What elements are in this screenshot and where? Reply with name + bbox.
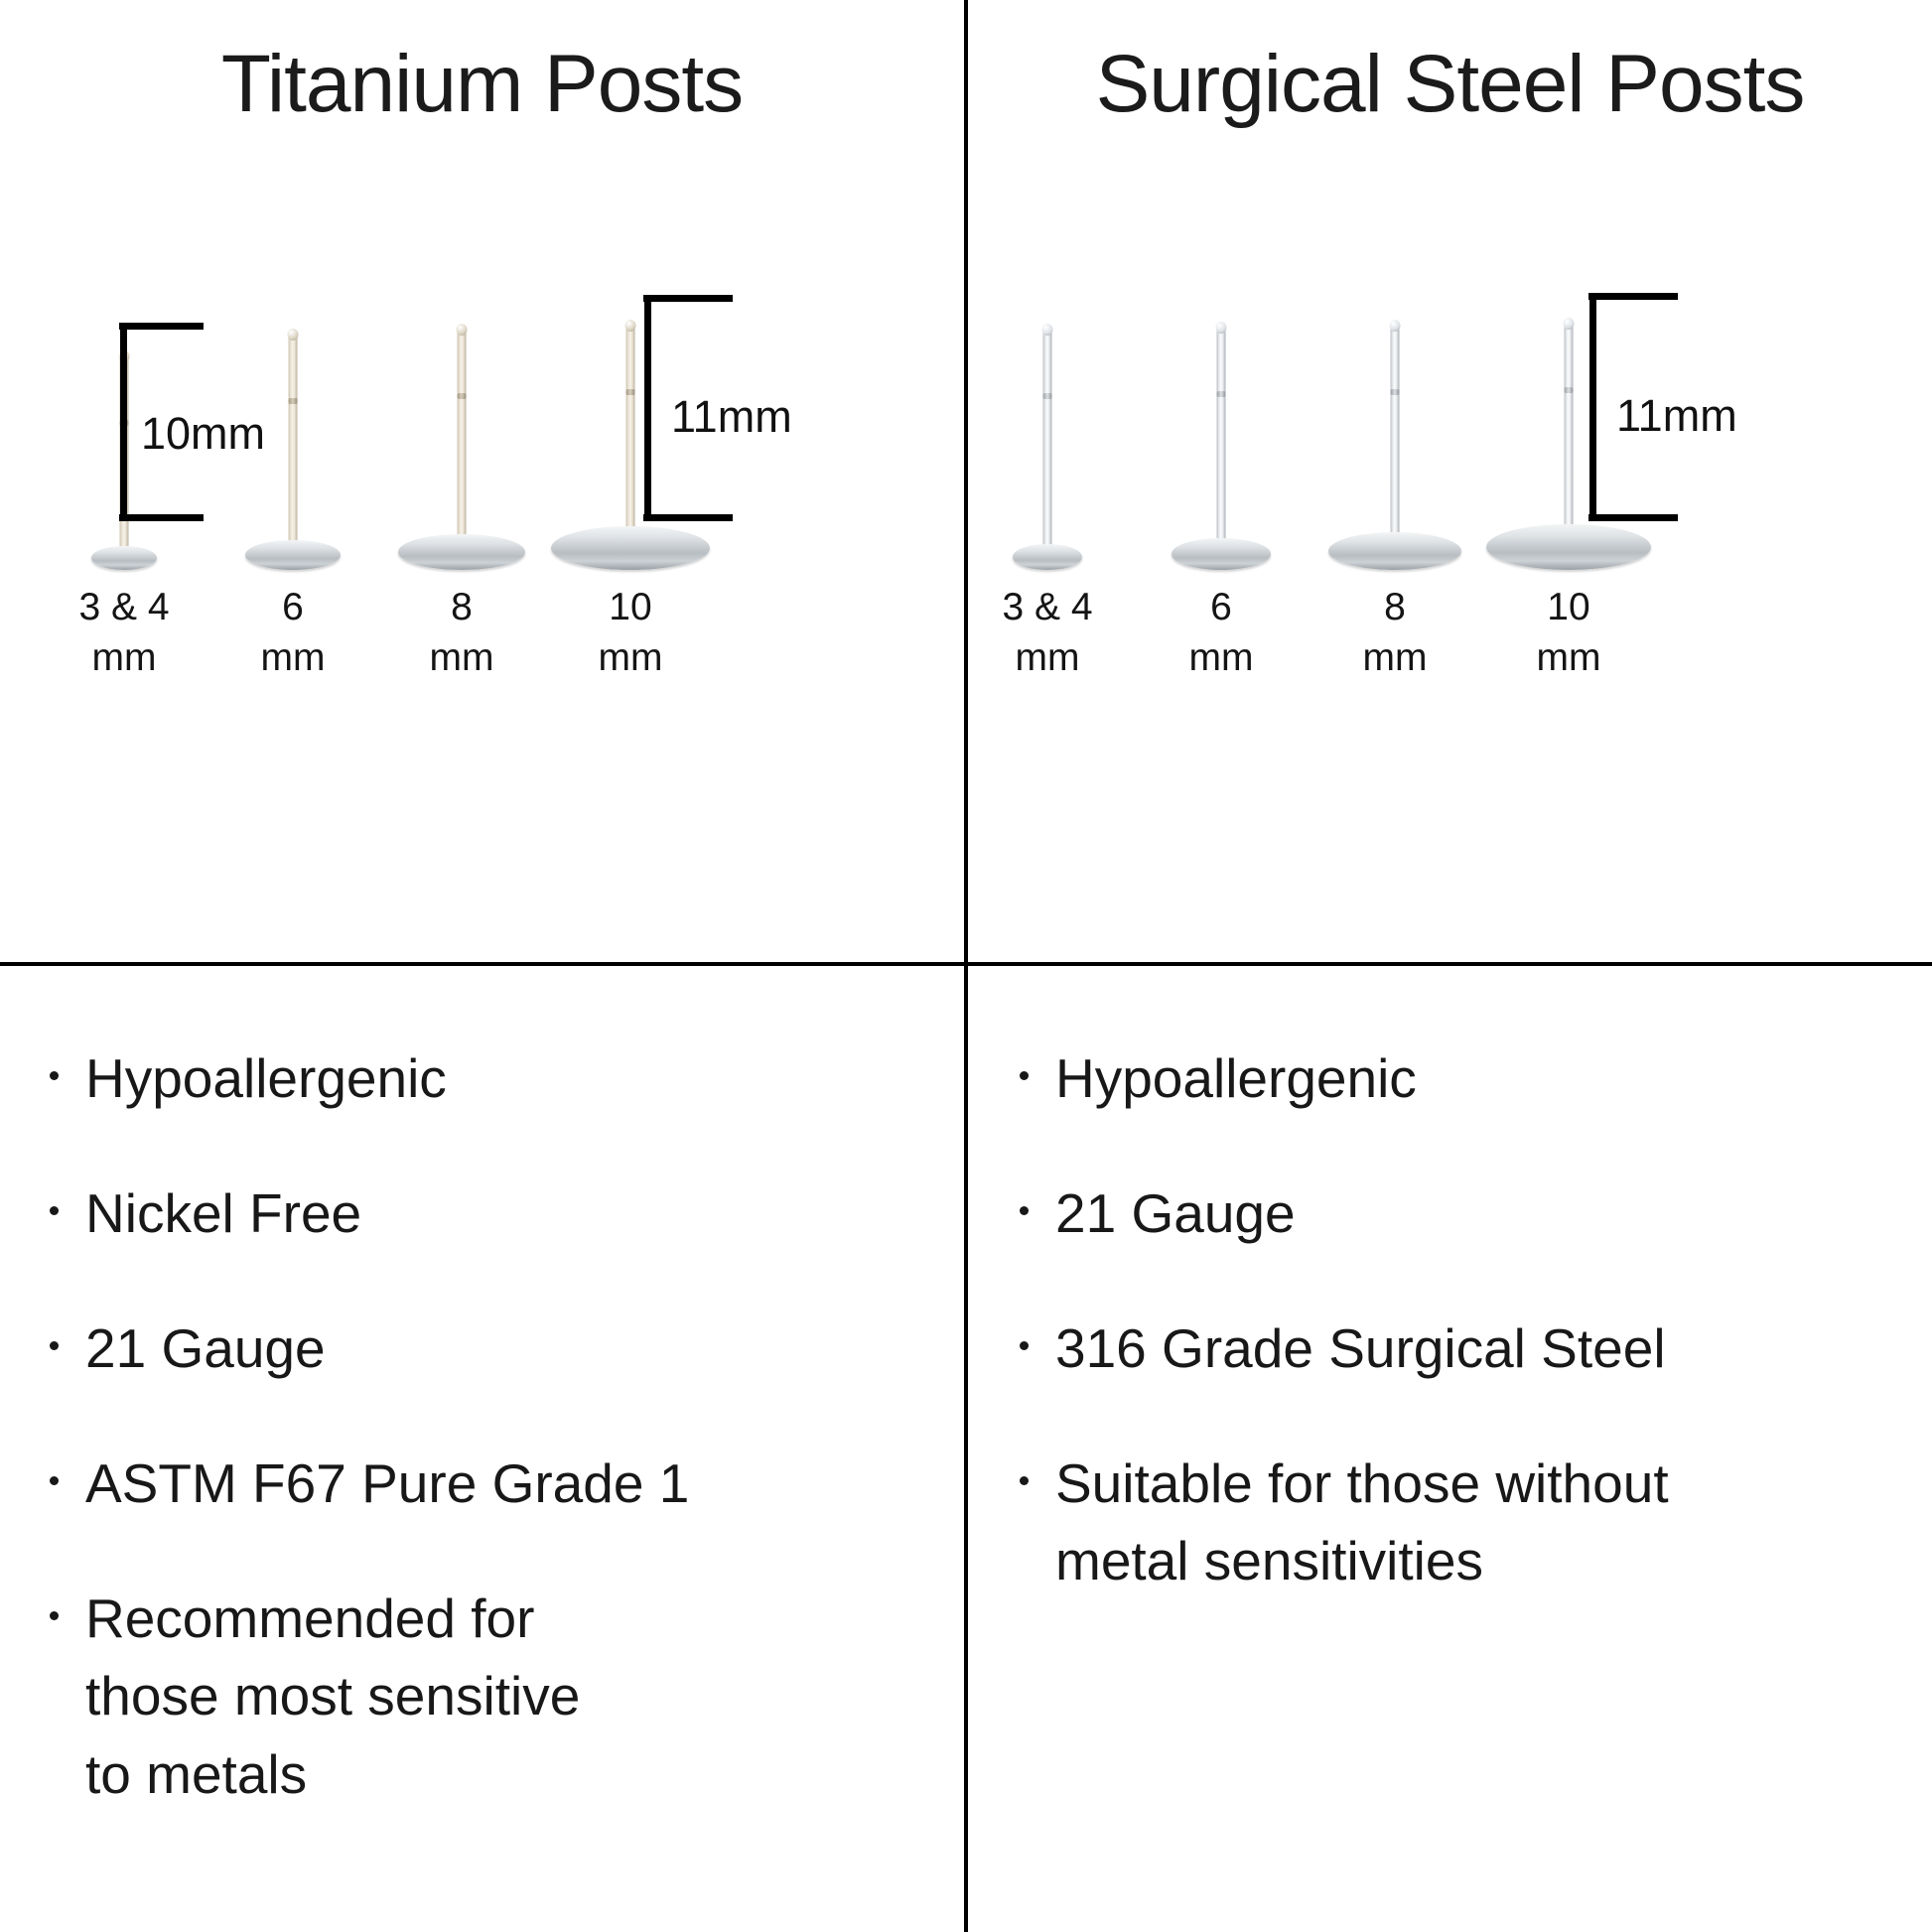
measurement-bracket-11mm: 11mm <box>643 295 738 521</box>
bullet-dot-icon <box>1020 1071 1029 1080</box>
size-number: 10 <box>521 582 740 632</box>
list-item: 316 Grade Surgical Steel <box>1018 1310 1892 1387</box>
size-caption-10mm: 10 mm <box>521 582 740 684</box>
panel-titanium-features: Hypoallergenic Nickel Free 21 Gauge ASTM… <box>0 966 964 1932</box>
post-pin <box>1043 328 1052 558</box>
post-pin <box>458 328 467 558</box>
bracket-bottom-tick <box>643 514 733 521</box>
feature-text: 21 Gauge <box>85 1317 326 1379</box>
infographic-sheet: Titanium Posts 10mm <box>0 0 1932 1932</box>
bracket-top-tick <box>1588 293 1678 300</box>
list-item: Suitable for those without metal sensiti… <box>1018 1445 1892 1599</box>
bracket-vertical-line <box>644 295 651 521</box>
titanium-feature-list: Hypoallergenic Nickel Free 21 Gauge ASTM… <box>48 1039 924 1813</box>
post-disc-base <box>1328 532 1461 570</box>
feature-text: Hypoallergenic <box>1055 1047 1417 1109</box>
list-item: 21 Gauge <box>48 1310 924 1387</box>
list-item: Hypoallergenic <box>1018 1039 1892 1117</box>
bracket-top-tick <box>119 323 204 330</box>
feature-text: 21 Gauge <box>1055 1182 1296 1244</box>
size-unit: mm <box>1459 632 1678 683</box>
post-steel-3-4mm <box>948 278 1147 576</box>
list-item: Hypoallergenic <box>48 1039 924 1117</box>
bracket-top-tick <box>643 295 733 302</box>
bracket-vertical-line <box>1589 293 1596 521</box>
post-disc-base <box>91 546 157 570</box>
feature-text: Recommended for those most sensitive to … <box>85 1587 580 1804</box>
titanium-posts-row: 10mm <box>0 278 964 576</box>
post-pin <box>1217 326 1226 558</box>
post-pin <box>1565 322 1574 558</box>
panel-surgical-steel-features: Hypoallergenic 21 Gauge 316 Grade Surgic… <box>968 966 1932 1932</box>
post-disc-base <box>1486 524 1651 570</box>
post-pin <box>1391 324 1400 558</box>
bullet-dot-icon <box>50 1341 59 1350</box>
size-unit: mm <box>521 632 740 683</box>
divider-vertical <box>964 0 968 1932</box>
size-caption-10mm: 10 mm <box>1459 582 1678 684</box>
post-disc-base <box>1172 538 1271 570</box>
divider-horizontal <box>0 962 1932 966</box>
measurement-label-11mm: 11mm <box>1616 390 1737 442</box>
post-disc-base <box>398 534 525 570</box>
bullet-dot-icon <box>50 1611 59 1620</box>
list-item: Recommended for those most sensitive to … <box>48 1580 924 1812</box>
bullet-dot-icon <box>1020 1206 1029 1215</box>
surgical-steel-posts-row: 11mm <box>968 278 1932 576</box>
post-steel-6mm <box>1122 278 1320 576</box>
feature-text: 316 Grade Surgical Steel <box>1055 1317 1666 1379</box>
measurement-bracket-11mm: 11mm <box>1588 293 1683 521</box>
list-item: 21 Gauge <box>1018 1174 1892 1252</box>
bracket-bottom-tick <box>119 514 204 521</box>
feature-text: Hypoallergenic <box>85 1047 447 1109</box>
titanium-size-captions: 3 & 4 mm 6 mm 8 mm 10 mm <box>0 582 964 701</box>
post-pin <box>626 324 635 558</box>
bullet-dot-icon <box>50 1206 59 1215</box>
feature-text: Suitable for those without metal sensiti… <box>1055 1452 1669 1591</box>
feature-text: Nickel Free <box>85 1182 361 1244</box>
post-disc-base <box>551 526 710 570</box>
surgical-steel-size-captions: 3 & 4 mm 6 mm 8 mm 10 mm <box>968 582 1932 701</box>
surgical-steel-feature-list: Hypoallergenic 21 Gauge 316 Grade Surgic… <box>1018 1039 1892 1599</box>
list-item: Nickel Free <box>48 1174 924 1252</box>
bullet-dot-icon <box>50 1476 59 1485</box>
panel-title-surgical-steel: Surgical Steel Posts <box>968 38 1932 131</box>
panel-titanium-posts: Titanium Posts 10mm <box>0 0 964 962</box>
post-disc-base <box>1013 544 1082 570</box>
bracket-bottom-tick <box>1588 514 1678 521</box>
panel-surgical-steel-posts: Surgical Steel Posts <box>968 0 1932 962</box>
post-steel-8mm <box>1296 278 1494 576</box>
bracket-vertical-line <box>120 323 127 521</box>
list-item: ASTM F67 Pure Grade 1 <box>48 1445 924 1522</box>
size-number: 10 <box>1459 582 1678 632</box>
measurement-label-11mm: 11mm <box>671 391 792 443</box>
feature-text: ASTM F67 Pure Grade 1 <box>85 1452 689 1514</box>
post-disc-base <box>245 540 341 570</box>
panel-title-titanium: Titanium Posts <box>0 38 964 131</box>
post-pin <box>289 333 298 558</box>
bullet-dot-icon <box>50 1071 59 1080</box>
bullet-dot-icon <box>1020 1341 1029 1350</box>
bullet-dot-icon <box>1020 1476 1029 1485</box>
